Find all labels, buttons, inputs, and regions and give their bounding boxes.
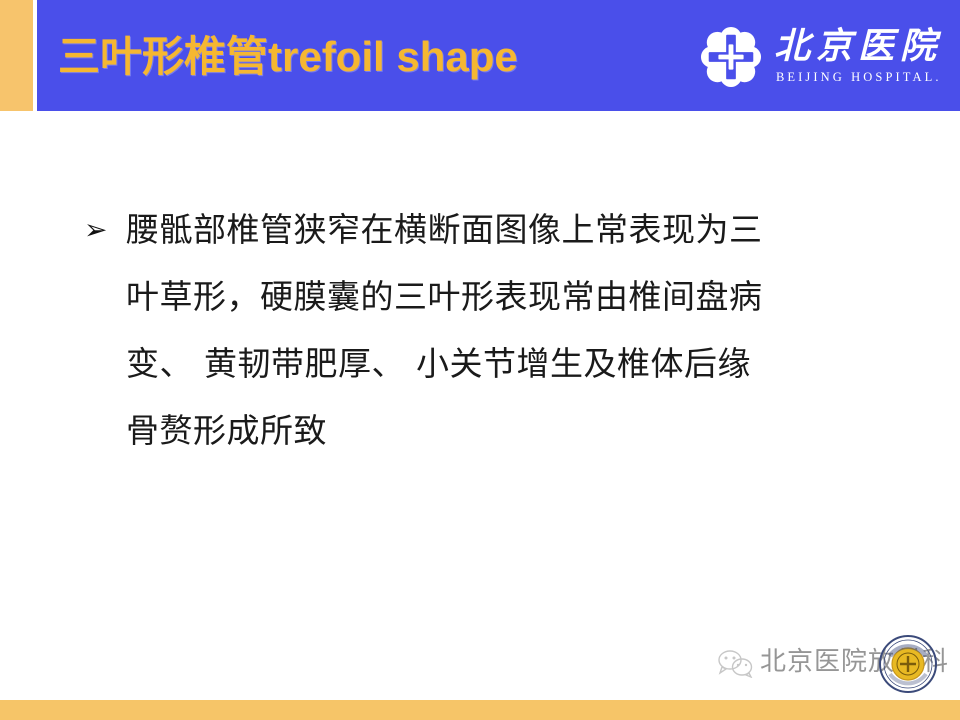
body-line-4: 骨赘形成所致 — [84, 397, 874, 464]
header-left-accent-bar — [0, 0, 33, 111]
body-line-1: ➢腰骶部椎管狭窄在横断面图像上常表现为三 — [84, 196, 874, 263]
hospital-name-cn: 北京医院 — [774, 24, 942, 68]
body-line-3-text: 变、 黄韧带肥厚、 小关节增生及椎体后缘 — [126, 344, 751, 383]
watermark: 北京医院放射科 — [716, 636, 946, 694]
page-title: 三叶形椎管trefoil shape — [58, 26, 518, 88]
slide-canvas: 三叶形椎管trefoil shape — [0, 0, 960, 720]
footer-gold-band — [0, 700, 960, 720]
circular-seal-icon — [878, 634, 938, 694]
wechat-icon — [716, 648, 756, 678]
body-line-2-text: 叶草形，硬膜囊的三叶形表现常由椎间盘病 — [126, 277, 763, 316]
body-line-1-text: 腰骶部椎管狭窄在横断面图像上常表现为三 — [126, 210, 763, 249]
slide-body: ➢腰骶部椎管狭窄在横断面图像上常表现为三 叶草形，硬膜囊的三叶形表现常由椎间盘病… — [84, 196, 874, 464]
arrow-bullet-icon: ➢ — [84, 196, 126, 263]
body-line-4-text: 骨赘形成所致 — [126, 411, 327, 450]
body-line-3: 变、 黄韧带肥厚、 小关节增生及椎体后缘 — [84, 330, 874, 397]
hospital-name-en: BEIJING HOSPITAL. — [776, 70, 942, 84]
hospital-logo: 北京医院 BEIJING HOSPITAL. — [700, 22, 948, 94]
body-line-2: 叶草形，硬膜囊的三叶形表现常由椎间盘病 — [84, 263, 874, 330]
flower-cross-emblem-icon — [700, 26, 762, 88]
